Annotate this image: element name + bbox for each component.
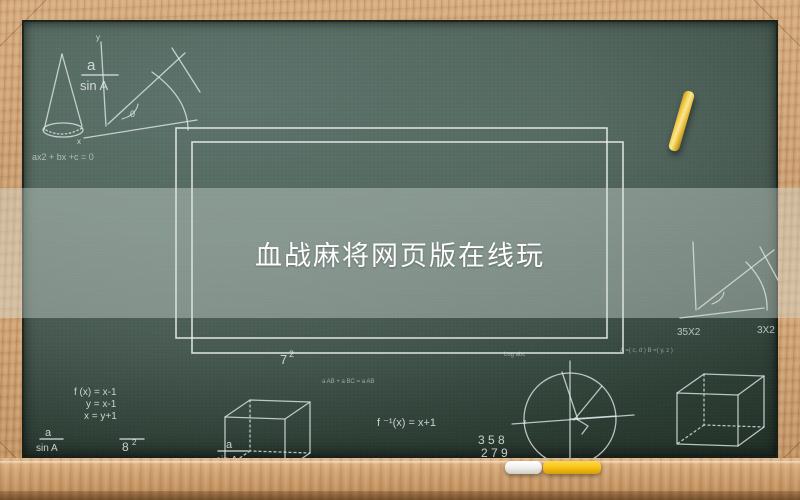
- chalkboard-banner: a sin A y x 0 ax2 + bx +c = 0 35X2 3X2 f…: [0, 0, 800, 500]
- page-title: 血战麻将网页版在线玩: [0, 188, 800, 318]
- ledge-highlight: [0, 461, 800, 464]
- chalk-ledge: [0, 458, 800, 500]
- white-chalk-icon: [505, 461, 542, 474]
- ledge-lip-shadow: [0, 491, 800, 500]
- yellow-chalk-icon-ledge: [543, 461, 601, 474]
